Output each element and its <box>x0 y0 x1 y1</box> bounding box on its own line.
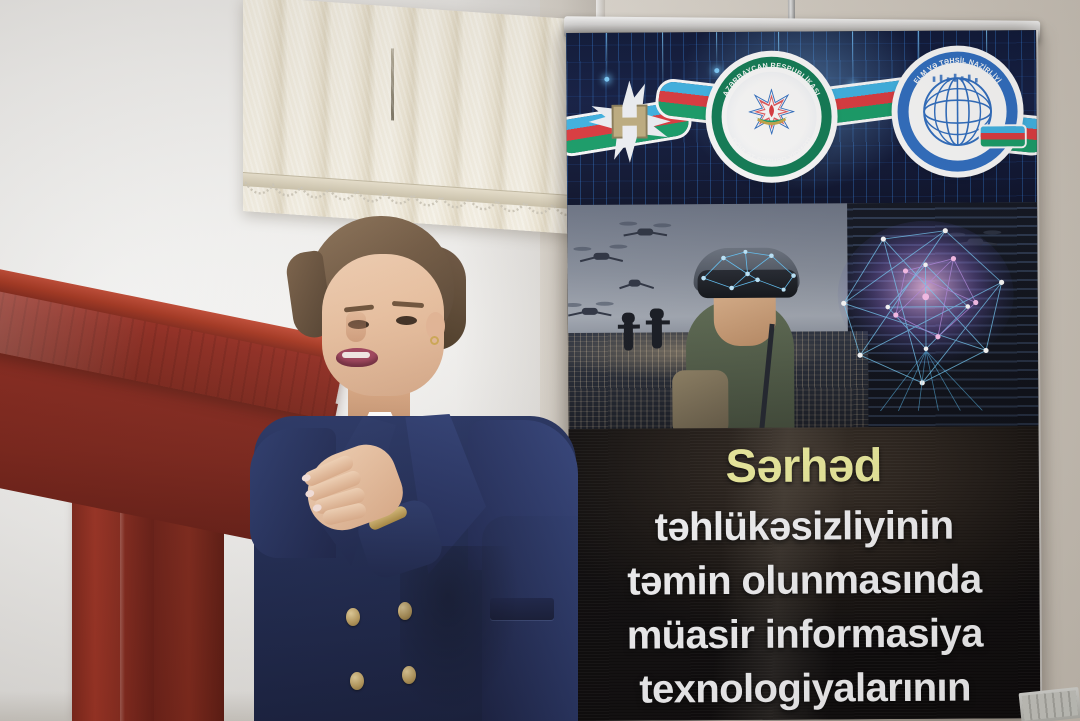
drone-icon <box>617 218 673 244</box>
drone-icon <box>573 243 629 269</box>
banner-line-4: texnologiyalarının <box>570 660 1040 717</box>
photo-scene: AZƏRBAYCAN RESPUBLİKASI DÖVLƏT SƏRHƏD Xİ… <box>0 0 1080 721</box>
neural-network-graphic <box>825 210 1022 411</box>
arm-shadow <box>400 546 520 716</box>
eyebrow-right <box>392 301 424 308</box>
jacket-button <box>350 672 364 690</box>
state-border-service-seal: AZƏRBAYCAN RESPUBLİKASI DÖVLƏT SƏRHƏD Xİ… <box>708 53 835 180</box>
roll-up-banner: AZƏRBAYCAN RESPUBLİKASI DÖVLƏT SƏRHƏD Xİ… <box>566 17 1042 721</box>
speaker-person <box>250 216 580 721</box>
computer-keyboard <box>1019 687 1080 721</box>
banner-canvas: AZƏRBAYCAN RESPUBLİKASI DÖVLƏT SƏRHƏD Xİ… <box>566 30 1040 721</box>
information-technologies-institute-seal: ELM VƏ TƏHSİL NAZİRLİYİ İNFORMASİYA TEXN… <box>894 48 1021 175</box>
border-service-star-emblem <box>588 80 670 162</box>
vr-network-overlay <box>693 244 805 301</box>
banner-line-1: təhlükəsizliyinin <box>569 498 1039 555</box>
banner-line-3: müasir informasiya <box>570 606 1040 663</box>
banner-line-2: təmin olunmasında <box>569 552 1039 609</box>
drone-icon <box>614 272 660 292</box>
banner-headline: Sərhəd <box>569 436 1039 494</box>
mouth <box>336 348 378 367</box>
earring <box>430 336 439 345</box>
jacket-button <box>346 608 360 626</box>
nose <box>346 312 366 342</box>
svg-text:DÖVLƏT SƏRHƏD XİDMƏTİ: DÖVLƏT SƏRHƏD XİDMƏTİ <box>729 136 815 167</box>
blind-gap <box>391 48 394 120</box>
banner-text-block: Sərhəd təhlükəsizliyinin təmin olunmasın… <box>568 426 1040 721</box>
azerbaijan-mini-flag <box>981 126 1025 146</box>
banner-photo-imagery <box>567 202 1038 437</box>
eye-right <box>396 316 417 325</box>
banner-body-lines: təhlükəsizliyinin təmin olunmasında müas… <box>569 498 1040 717</box>
azerbaijan-coat-of-arms <box>748 89 794 135</box>
